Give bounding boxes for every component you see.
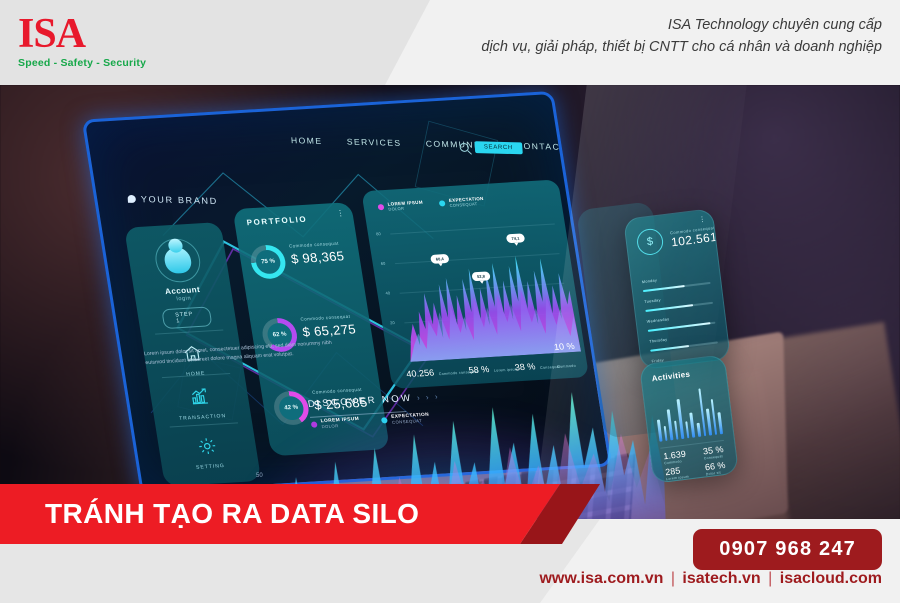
legend-item: EXPECTATION CONSEQUAT <box>438 196 484 209</box>
activities-stat: 285 Lorem ipsum <box>665 465 689 482</box>
website-link-1[interactable]: www.isa.com.vn <box>539 570 663 587</box>
sidebar-divider <box>155 329 223 334</box>
activities-stat: 35 % Consequat <box>702 444 724 460</box>
coin-icon: $ <box>636 227 665 256</box>
grid-line <box>390 223 555 234</box>
step-button[interactable]: STEP 1 <box>161 306 212 329</box>
header-tagline-line1: ISA Technology chuyên cung cấp <box>481 14 882 36</box>
link-separator: | <box>671 570 675 587</box>
phone-button[interactable]: 0907 968 247 <box>693 529 882 570</box>
activities-bar <box>711 399 718 435</box>
nav-item-home[interactable]: HOME <box>291 135 323 146</box>
activities-bar <box>706 408 712 436</box>
activities-bar <box>718 412 723 434</box>
graph-stat-value: 58 % <box>468 364 490 375</box>
website-link-2[interactable]: isatech.vn <box>682 570 760 587</box>
activities-stat: 1.639 Commodo <box>663 449 687 466</box>
wallet-day: Tuesday <box>644 298 661 304</box>
header-tagline: ISA Technology chuyên cung cấp dịch vụ, … <box>481 14 882 58</box>
activities-panel: Activities 1.639 Commodo 35 % Consequat … <box>639 354 739 484</box>
y-tick: 40 <box>385 290 390 295</box>
link-separator: | <box>768 570 772 587</box>
portfolio-row: 75 % Commodo consequat $ 98,365 <box>245 232 359 298</box>
wallet-header: $ Commodo consequat 102.561 <box>636 221 719 257</box>
activities-title: Activities <box>651 370 690 384</box>
brand-mark-icon <box>127 195 136 203</box>
sidebar-label-setting: SETTING <box>162 461 259 473</box>
activities-bar <box>690 413 696 438</box>
hero-photo: YOUR BRAND HOME SERVICES COMMUNITY CONTA… <box>0 85 900 519</box>
chart-tooltip: 74,1 <box>506 233 525 243</box>
search-icon <box>460 142 470 151</box>
graph-stat-value: 40.256 <box>406 368 435 380</box>
portfolio-value: $ 65,275 <box>301 321 357 339</box>
portfolio-donut: 75 % <box>248 244 287 280</box>
wallet-day: Wednesday <box>647 317 670 324</box>
portfolio-row: 62 % Commodo consequat $ 65,275 <box>257 305 371 371</box>
y-tick: 80 <box>376 231 381 236</box>
activities-bar <box>697 423 701 437</box>
dashboard-nav[interactable]: HOME SERVICES COMMUNITY CONTACT US <box>291 135 586 152</box>
gear-icon <box>196 436 219 457</box>
graph-legend: LOREM IPSUM DOLOR EXPECTATION CONSEQUAT <box>377 196 485 212</box>
portfolio-title: PORTFOLIO <box>246 215 308 228</box>
search-bar[interactable]: SEARCH <box>460 141 523 154</box>
activities-stat: 66 % Dolor sit <box>704 460 726 476</box>
portfolio-label: Commodo consequat <box>289 241 339 249</box>
page-header: ISA Speed - Safety - Security ISA Techno… <box>0 0 900 85</box>
website-links[interactable]: www.isa.com.vn | isatech.vn | isacloud.c… <box>539 570 882 588</box>
wallet-day: Monday <box>642 278 658 284</box>
headline-banner: TRÁNH TẠO RA DATA SILO <box>0 484 560 544</box>
activities-bar <box>663 426 667 441</box>
logo-text: ISA <box>18 13 146 55</box>
header-tagline-line2: dịch vụ, giải pháp, thiết bị CNTT cho cá… <box>481 36 882 58</box>
legend-item: LOREM IPSUM DOLOR <box>377 200 424 213</box>
portfolio-label: Commodo consequat <box>300 314 350 322</box>
website-link-3[interactable]: isacloud.com <box>780 570 882 587</box>
search-button[interactable]: SEARCH <box>475 141 523 154</box>
activities-bar <box>677 399 684 439</box>
legend-dot-icon <box>378 204 385 210</box>
activities-bar-chart <box>653 384 723 441</box>
legend-dot-icon <box>439 200 446 206</box>
avatar[interactable] <box>152 237 203 283</box>
legend-sub: DOLOR <box>388 205 424 212</box>
chart-icon <box>188 386 211 407</box>
brand-name: YOUR BRAND <box>141 194 219 206</box>
headline-text: TRÁNH TẠO RA DATA SILO <box>45 498 419 530</box>
graph-stat-value: 38 % <box>514 361 536 372</box>
hologram-y-tick: 50 <box>256 473 263 479</box>
brand-label: YOUR BRAND <box>127 194 218 206</box>
activities-bar <box>657 419 662 442</box>
y-tick: 60 <box>380 261 385 266</box>
activities-bar <box>685 421 690 438</box>
main-graph-card: LOREM IPSUM DOLOR EXPECTATION CONSEQUAT <box>361 179 589 389</box>
logo-tagline: Speed - Safety - Security <box>18 57 146 69</box>
legend-sub: CONSEQUAT <box>449 201 485 208</box>
activities-bar <box>667 409 673 440</box>
graph-stat-value: 10 % <box>553 341 575 352</box>
chart-tooltip: 60,4 <box>430 254 449 264</box>
wallet-day: Thursday <box>649 338 668 344</box>
avatar-person-icon <box>163 247 193 274</box>
activities-bar <box>674 421 679 440</box>
sidebar-divider-3 <box>170 422 238 427</box>
portfolio-menu-icon[interactable]: ⋮ <box>336 211 344 214</box>
y-tick: 20 <box>390 320 395 325</box>
portfolio-value: $ 98,365 <box>290 248 346 266</box>
chart-tooltip: 52,8 <box>471 271 490 281</box>
isa-logo[interactable]: ISA Speed - Safety - Security <box>18 13 146 69</box>
portfolio-percent: 75 % <box>254 249 282 274</box>
nav-item-services[interactable]: SERVICES <box>346 137 401 148</box>
wallet-panel: ⋮ $ Commodo consequat 102.561 Monday Tue… <box>623 208 731 370</box>
sidebar-item-transaction[interactable]: TRANSACTION <box>150 384 252 423</box>
